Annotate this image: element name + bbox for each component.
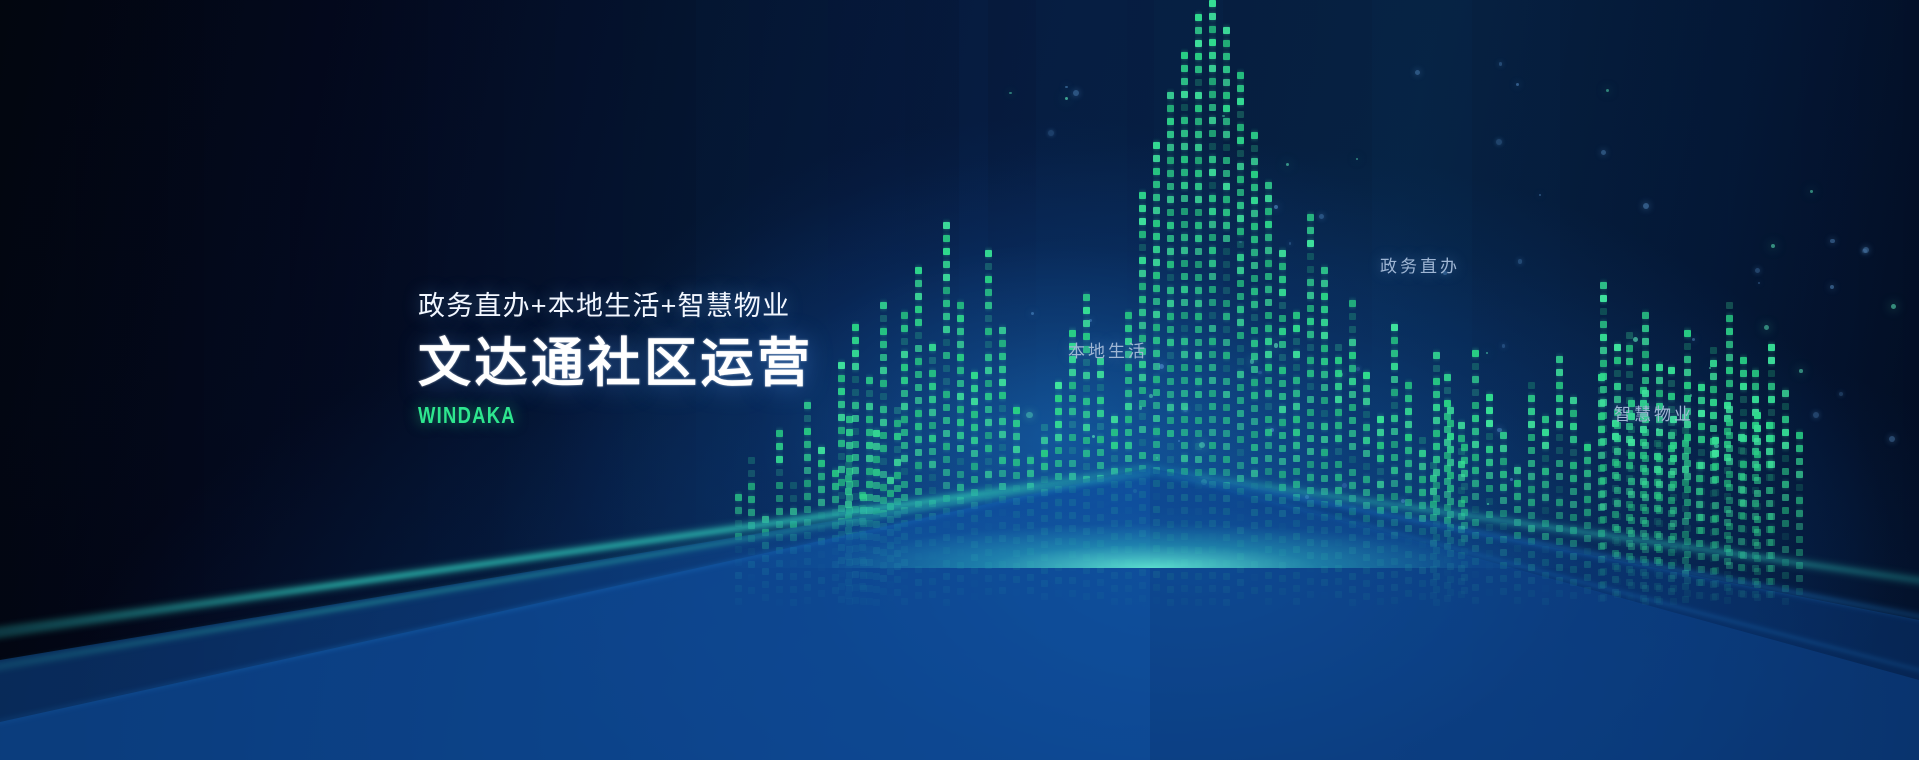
city-dot [1461,509,1468,516]
city-dot [866,533,873,540]
city-dot [915,384,922,391]
sparkle-dot [1401,499,1405,503]
city-dot [1139,569,1146,576]
city-dot [1139,582,1146,589]
sparkle-dot [1799,369,1803,373]
city-dot [1419,489,1426,496]
city-dot [1013,524,1020,531]
city-dot [1682,544,1689,551]
city-dot [1125,494,1132,501]
city-dot [818,538,825,545]
city-dot [1293,429,1300,436]
city-dot [985,393,992,400]
city-dot [1600,386,1607,393]
city-dot [1223,53,1230,60]
city-dot [1556,525,1563,532]
city-dot [1642,455,1649,462]
city-dot [1698,579,1705,586]
city-dot [1027,548,1034,555]
city-dot [1265,325,1272,332]
city-dot [804,532,811,539]
city-dot [1486,511,1493,518]
city-dot [1500,484,1507,491]
city-dot [1069,382,1076,389]
city-dot [887,555,894,562]
city-dot [1167,495,1174,502]
city-dot [1153,324,1160,331]
city-dot [1195,326,1202,333]
city-dot [1500,575,1507,582]
city-dot [1013,446,1020,453]
city-dot [1391,402,1398,409]
ground-wedge [1150,468,1919,760]
city-dot [1391,571,1398,578]
city-dot [776,547,783,554]
city-dot [1570,488,1577,495]
city-dot [929,526,936,533]
city-dot [1237,189,1244,196]
city-dot [1013,420,1020,427]
city-dot [1181,208,1188,215]
city-dot [1600,503,1607,510]
city-dot [1097,397,1104,404]
city-dot [846,507,853,514]
city-dot [1237,85,1244,92]
city-dot [1433,352,1440,359]
city-dot [1195,573,1202,580]
sparkle-dot [1201,479,1207,485]
city-dot [1363,385,1370,392]
city-dot [1097,423,1104,430]
city-dot [999,392,1006,399]
city-dot [866,403,873,410]
city-dot [999,561,1006,568]
city-dot [1251,327,1258,334]
city-dot [1584,535,1591,542]
city-dot [1111,559,1118,566]
city-dot [1528,590,1535,597]
city-dot [1335,409,1342,416]
city-dot [1626,579,1633,586]
brand-wordmark: WINDAKA [418,402,734,429]
city-dot [1377,507,1384,514]
city-dot [943,521,950,528]
city-dot [1472,545,1479,552]
city-dot [1237,501,1244,508]
city-dot [1251,496,1258,503]
city-dot [1626,488,1633,495]
city-dot [1528,551,1535,558]
city-dot [915,449,922,456]
city-dot [1726,562,1733,569]
city-dot [1626,449,1633,456]
city-dot [1167,196,1174,203]
city-dot [1684,382,1691,389]
city-dot [894,524,901,531]
city-dot [1279,536,1286,543]
background-band [0,0,76,760]
city-dot [971,450,978,457]
city-dot [929,591,936,598]
city-dot [1710,555,1717,562]
city-dot [1293,416,1300,423]
city-dot [1668,562,1675,569]
city-dot [1710,425,1717,432]
city-dot [1740,526,1747,533]
city-dot [1055,538,1062,545]
city-dot [1153,181,1160,188]
city-dot [1710,386,1717,393]
city-dot [985,315,992,322]
city-dot [1223,248,1230,255]
city-dot [1724,532,1731,539]
city-dot [1419,593,1426,600]
city-dot [1125,455,1132,462]
city-dot [915,358,922,365]
city-dot [1598,595,1605,602]
city-dot [1181,65,1188,72]
city-dot [1349,573,1356,580]
city-dot [943,326,950,333]
city-dot [1684,486,1691,493]
city-dot [894,498,901,505]
city-dot [1195,235,1202,242]
city-dot [804,558,811,565]
city-dot [1724,584,1731,591]
city-dot [1223,378,1230,385]
city-dot [1654,557,1661,564]
city-dot [1712,437,1719,444]
city-dot [1668,497,1675,504]
city-dot [1752,448,1759,455]
city-dot [1570,501,1577,508]
city-dot [1055,434,1062,441]
city-dot [1472,376,1479,383]
city-dot [866,494,873,501]
city-dot [1782,481,1789,488]
city-dot [1013,472,1020,479]
city-dot [1195,495,1202,502]
city-dot [894,420,901,427]
city-dot [1740,487,1747,494]
city-dot [971,398,978,405]
city-dot [1139,257,1146,264]
city-dot [1083,307,1090,314]
city-dot [1013,498,1020,505]
city-dot [1628,543,1635,550]
city-dot [1600,477,1607,484]
city-dot [985,341,992,348]
city-dot [1405,486,1412,493]
city-dot [1628,595,1635,602]
city-dot [1167,586,1174,593]
city-dot [1335,500,1342,507]
city-dot [971,502,978,509]
city-dot [1251,314,1258,321]
city-dot [1195,391,1202,398]
city-dot [1472,350,1479,357]
city-dot [1223,469,1230,476]
city-dot [1265,533,1272,540]
city-dot [873,521,880,528]
city-dot [1083,411,1090,418]
city-dot [1584,587,1591,594]
city-dot [1766,539,1773,546]
city-dot [1444,530,1451,537]
city-dot [1181,494,1188,501]
city-dot [1724,467,1731,474]
city-tower-column [1433,0,1440,612]
city-dot [1181,598,1188,605]
city-dot [866,520,873,527]
city-dot [1181,260,1188,267]
city-dot [1796,562,1803,569]
city-dot [1796,536,1803,543]
city-dot [1433,443,1440,450]
city-dot [1097,436,1104,443]
city-dot [1796,484,1803,491]
city-dot [1027,574,1034,581]
city-dot [1293,546,1300,553]
city-dot [915,553,922,560]
city-dot [1181,520,1188,527]
city-dot [866,390,873,397]
city-dot [790,521,797,528]
city-dot [1419,450,1426,457]
background-band [1728,0,1801,760]
city-dot [1768,552,1775,559]
city-dot [1279,367,1286,374]
city-dot [1444,491,1451,498]
city-dot [943,235,950,242]
city-dot [1125,507,1132,514]
city-dot [1083,502,1090,509]
city-dot [1584,574,1591,581]
city-dot [901,598,908,605]
city-dot [1055,590,1062,597]
city-dot [1768,344,1775,351]
city-dot [1111,520,1118,527]
city-dot [1349,469,1356,476]
city-dot [748,509,755,516]
city-dot [1209,208,1216,215]
city-dot [1265,377,1272,384]
city-tower-column [1391,0,1398,612]
city-dot [1698,514,1705,521]
city-dot [1265,195,1272,202]
city-dot [1223,521,1230,528]
city-dot [1195,27,1202,34]
city-dot [1125,429,1132,436]
city-dot [1139,231,1146,238]
city-dot [1181,338,1188,345]
city-dot [1640,426,1647,433]
city-dot [1237,397,1244,404]
sparkle-dot [1092,435,1095,438]
city-dot [866,429,873,436]
city-dot [859,544,866,551]
city-dot [943,300,950,307]
city-dot [915,462,922,469]
city-dot [1083,476,1090,483]
city-dot [866,416,873,423]
city-dot [1265,312,1272,319]
city-dot [1740,539,1747,546]
city-dot [1195,157,1202,164]
city-dot [1598,452,1605,459]
city-dot [957,523,964,530]
city-dot [901,520,908,527]
city-dot [1391,415,1398,422]
city-dot [1279,289,1286,296]
city-dot [762,516,769,523]
city-dot [1612,472,1619,479]
city-dot [818,473,825,480]
city-dot [804,519,811,526]
city-dot [1570,462,1577,469]
city-dot [1013,576,1020,583]
city-dot [1167,326,1174,333]
city-dot [762,542,769,549]
city-dot [943,352,950,359]
city-dot [1377,468,1384,475]
city-dot [838,453,845,460]
city-dot [1181,585,1188,592]
city-dot [1153,532,1160,539]
city-dot [1321,436,1328,443]
city-tower-column [1642,0,1649,612]
city-dot [1656,520,1663,527]
city-dot [1654,544,1661,551]
city-dot [1139,218,1146,225]
city-dot [1265,273,1272,280]
city-dot [1752,487,1759,494]
city-dot [832,483,839,490]
city-dot [1139,543,1146,550]
city-dot [894,589,901,596]
city-dot [1754,425,1761,432]
city-dot [1139,400,1146,407]
city-dot [1556,499,1563,506]
city-dot [748,470,755,477]
city-dot [1237,410,1244,417]
city-dot [852,337,859,344]
city-dot [1139,387,1146,394]
city-dot [1600,295,1607,302]
city-dot [985,419,992,426]
city-dot [1740,357,1747,364]
city-dot [1556,382,1563,389]
city-dot [1265,546,1272,553]
city-dot [1682,583,1689,590]
city-dot [1279,250,1286,257]
city-dot [1153,506,1160,513]
city-dot [915,423,922,430]
city-dot [985,458,992,465]
city-dot [1768,435,1775,442]
city-dot [1528,486,1535,493]
city-dot [1181,52,1188,59]
city-dot [1710,529,1717,536]
city-dot [1670,533,1677,540]
city-dot [1726,315,1733,322]
city-dot [1321,306,1328,313]
city-dot [1181,273,1188,280]
city-dot [929,448,936,455]
city-dot [880,497,887,504]
city-dot [1223,92,1230,99]
city-dot [1472,584,1479,591]
city-dot [1670,468,1677,475]
city-dot [1500,497,1507,504]
city-dot [1419,515,1426,522]
city-dot [1251,418,1258,425]
sparkle-dot [1714,444,1719,449]
city-dot [1167,287,1174,294]
city-dot [1153,376,1160,383]
city-dot [1209,585,1216,592]
city-dot [1626,345,1633,352]
city-dot [1391,467,1398,474]
city-dot [1712,541,1719,548]
city-dot [1486,394,1493,401]
city-dot [1668,536,1675,543]
city-dot [985,289,992,296]
city-dot [818,486,825,493]
city-dot [1696,475,1703,482]
city-dot [1600,347,1607,354]
city-dot [901,325,908,332]
city-dot [1209,325,1216,332]
city-dot [1237,98,1244,105]
city-dot [1097,449,1104,456]
city-tower-column [887,0,894,612]
city-dot [1125,598,1132,605]
city-dot [1139,465,1146,472]
city-dot [1556,408,1563,415]
city-dot [790,573,797,580]
city-dot [1500,471,1507,478]
city-dot [1768,487,1775,494]
city-dot [852,402,859,409]
city-dot [1181,247,1188,254]
city-dot [1181,377,1188,384]
ground-wedge [1150,468,1919,760]
city-dot [1696,501,1703,508]
city-dot [845,540,852,547]
city-dot [1237,72,1244,79]
city-dot [1684,356,1691,363]
city-dot [1598,374,1605,381]
city-dot [1782,598,1789,605]
city-dot [1668,458,1675,465]
city-dot [866,559,873,566]
city-dot [1335,435,1342,442]
city-dot [818,447,825,454]
city-dot [1486,446,1493,453]
city-dot [852,597,859,604]
city-dot [1444,400,1451,407]
city-dot [1696,553,1703,560]
city-dot [1614,357,1621,364]
city-dot [1766,435,1773,442]
city-dot [1209,312,1216,319]
city-dot [735,507,742,514]
city-dot [776,599,783,606]
city-dot [915,280,922,287]
city-dot [1738,564,1745,571]
city-dot [985,406,992,413]
